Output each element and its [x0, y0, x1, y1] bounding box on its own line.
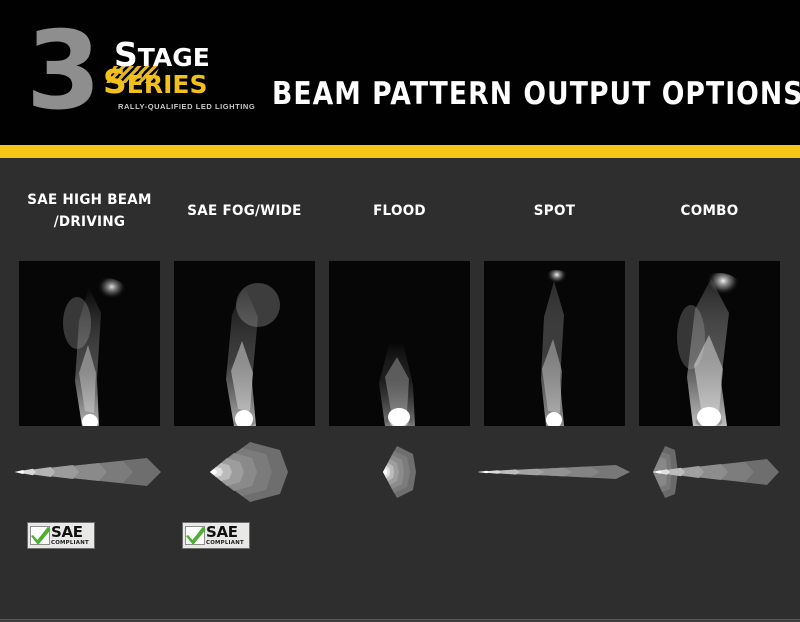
sae-badge-title: SAE	[51, 525, 89, 540]
column-label-line1: FLOOD	[319, 200, 480, 222]
night-road-render	[484, 261, 625, 426]
column-spot: SPOT	[484, 158, 625, 622]
sae-badge-text: SAE COMPLIANT	[206, 525, 244, 546]
beam-photo-sae-high-beam-driving	[19, 261, 160, 426]
sae-badge-title: SAE	[206, 525, 244, 540]
beam-shape-narrow-long-lance	[476, 436, 633, 508]
beam-photo-combo	[639, 261, 780, 426]
column-label-line2: /DRIVING	[9, 211, 170, 233]
sae-badge-subtitle: COMPLIANT	[51, 541, 89, 546]
beam-shape-fan-plus-lance	[631, 436, 788, 508]
beam-shape-round-flood	[321, 436, 478, 508]
beam-pattern-infographic: 3 STAGE SERIES RALLY-QUALIFIED LED LIGHT…	[0, 0, 800, 622]
beam-options-grid: SAE HIGH BEAM /DRIVING	[0, 158, 800, 622]
column-sae-fog-wide: SAE FOG/WIDE	[174, 158, 315, 622]
night-road-render	[174, 261, 315, 426]
yellow-accent-divider	[0, 145, 800, 158]
column-header-sae-high-beam-driving: SAE HIGH BEAM /DRIVING	[9, 189, 170, 233]
beam-diagram-spot	[476, 436, 633, 508]
column-header-combo: COMBO	[629, 200, 790, 222]
logo-wordmark: STAGE SERIES RALLY-QUALIFIED LED LIGHTIN…	[98, 42, 248, 122]
sae-compliant-badge: SAE COMPLIANT	[27, 522, 95, 549]
column-combo: COMBO	[639, 158, 780, 622]
logo-word-stage: STAGE	[114, 42, 210, 70]
sae-compliant-badge-wrap-2: SAE COMPLIANT	[174, 518, 315, 552]
logo-tagline: RALLY-QUALIFIED LED LIGHTING	[118, 102, 255, 111]
beam-diagram-combo	[631, 436, 788, 508]
column-header-sae-fog-wide: SAE FOG/WIDE	[164, 200, 325, 222]
sae-compliant-badge-wrap-1: SAE COMPLIANT	[19, 518, 160, 552]
logo-word-series: SERIES	[103, 69, 208, 97]
beam-diagram-flood	[321, 436, 478, 508]
column-label-line1: SAE FOG/WIDE	[164, 200, 325, 222]
page-title: BEAM PATTERN OUTPUT OPTIONS	[272, 76, 800, 112]
beam-photo-sae-fog-wide	[174, 261, 315, 426]
checkmark-icon	[185, 526, 205, 545]
sae-compliant-badge: SAE COMPLIANT	[182, 522, 250, 549]
beam-diagram-sae-high-beam-driving	[11, 436, 168, 508]
column-header-spot: SPOT	[474, 200, 635, 222]
checkmark-icon	[30, 526, 50, 545]
stage-series-logo: 3 STAGE SERIES RALLY-QUALIFIED LED LIGHT…	[26, 28, 241, 133]
column-header-flood: FLOOD	[319, 200, 480, 222]
night-road-render	[639, 261, 780, 426]
night-road-render	[19, 261, 160, 426]
beam-shape-long-tapered-lance	[11, 436, 168, 508]
beam-shape-wide-fan	[166, 436, 323, 508]
sae-badge-subtitle: COMPLIANT	[206, 541, 244, 546]
header-bar: 3 STAGE SERIES RALLY-QUALIFIED LED LIGHT…	[0, 0, 800, 145]
column-label-line1: SAE HIGH BEAM	[9, 189, 170, 211]
column-label-line1: COMBO	[629, 200, 790, 222]
night-road-render	[329, 261, 470, 426]
beam-photo-spot	[484, 261, 625, 426]
beam-diagram-sae-fog-wide	[166, 436, 323, 508]
column-sae-high-beam-driving: SAE HIGH BEAM /DRIVING	[19, 158, 160, 622]
beam-photo-flood	[329, 261, 470, 426]
sae-badge-text: SAE COMPLIANT	[51, 525, 89, 546]
column-flood: FLOOD	[329, 158, 470, 622]
column-label-line1: SPOT	[474, 200, 635, 222]
